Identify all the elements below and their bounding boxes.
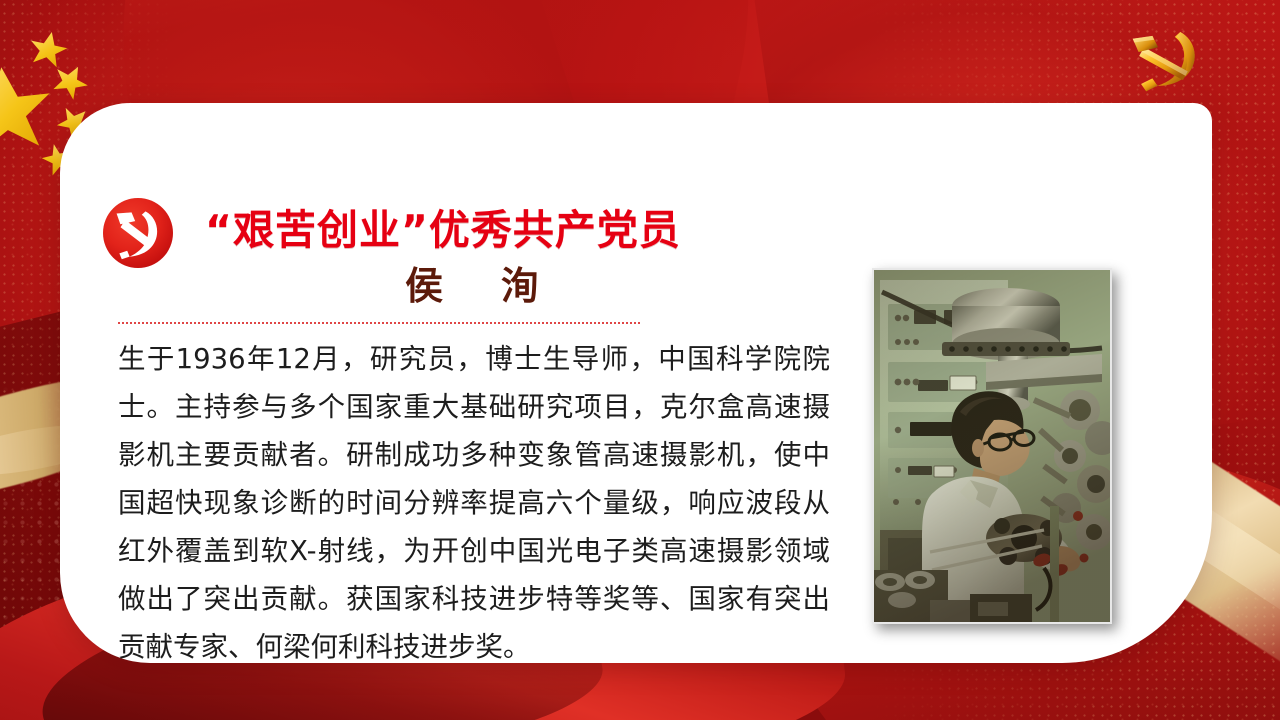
content-card: “艰苦创业”优秀共产党员 侯 洵 生于1936年12月，研究员，博士生导师，中国…	[60, 103, 1212, 663]
party-emblem-hammer-sickle-icon	[100, 195, 176, 271]
slide-root: “艰苦创业”优秀共产党员 侯 洵 生于1936年12月，研究员，博士生导师，中国…	[0, 0, 1280, 720]
biography-paragraph: 生于1936年12月，研究员，博士生导师，中国科学院院士。主持参与多个国家重大基…	[118, 335, 830, 671]
dotted-divider	[118, 322, 640, 324]
page-title: “艰苦创业”优秀共产党员	[205, 196, 681, 256]
person-name: 侯 洵	[405, 255, 549, 310]
scientist-photo	[872, 268, 1112, 624]
gold-hammer-sickle-emblem-icon	[1120, 22, 1216, 98]
